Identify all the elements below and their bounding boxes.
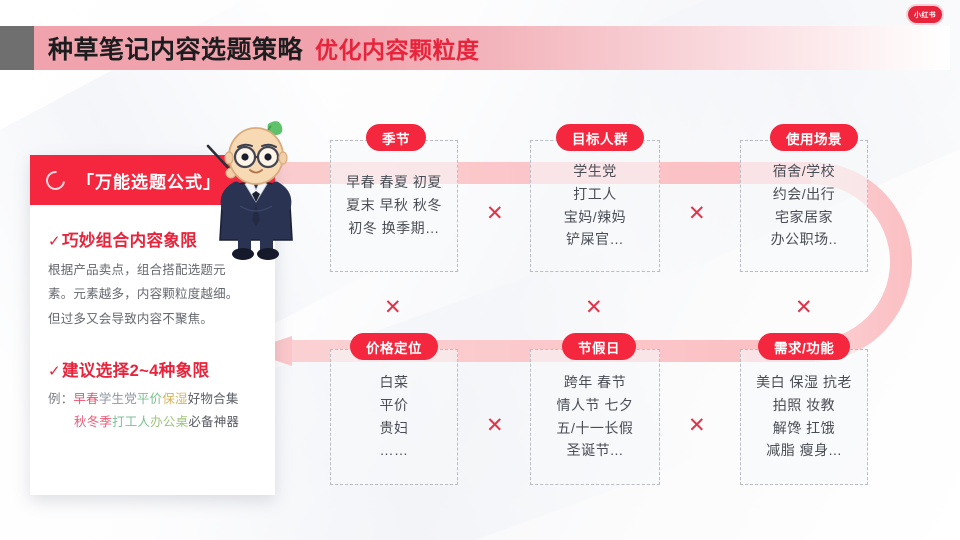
paragraph-line: 素。元素越多，内容颗粒度越细。 <box>48 282 257 306</box>
pill-holiday[interactable]: 节假日 <box>562 333 636 360</box>
cell-line: 跨年 春节 <box>564 373 626 393</box>
example-segment: 学生党 <box>99 392 137 406</box>
cell-line: 铲屎官… <box>566 230 624 250</box>
cell-line: 美白 保湿 抗老 <box>756 373 852 393</box>
pill-price-positioning[interactable]: 价格定位 <box>350 333 438 360</box>
multiply-icon: ✕ <box>795 297 813 318</box>
cell-line: 解馋 扛饿 <box>773 419 835 439</box>
cell-line: 平价 <box>380 396 409 416</box>
example-segment: 早春 <box>73 392 98 406</box>
cell-line: 早春 春夏 初夏 <box>346 173 442 193</box>
cell-line: 宿舍/学校 <box>773 162 835 182</box>
page-title-main: 种草笔记内容选题策略 <box>48 30 303 66</box>
example-segment: 好物合集 <box>188 392 239 406</box>
check-icon: ✓ <box>48 362 61 380</box>
cell-line: 白菜 <box>380 373 409 393</box>
header-gray-block <box>0 26 34 70</box>
example-segment: 办公桌 <box>150 415 188 429</box>
card-section1-paragraph: 根据产品卖点，组合搭配选题元 素。元素越多，内容颗粒度越细。 但过多又会导致内容… <box>48 258 257 331</box>
example-segment: 打工人 <box>112 415 150 429</box>
pill-need-function[interactable]: 需求/功能 <box>758 333 850 360</box>
example-line-2-segments: 秋冬季打工人办公桌必备神器 <box>74 415 239 429</box>
cell-line: 学生党 <box>573 162 617 182</box>
example-line-2: 秋冬季打工人办公桌必备神器 <box>48 411 257 434</box>
cell-holiday[interactable]: 跨年 春节 情人节 七夕 五/十一长假 圣诞节... <box>530 349 660 485</box>
xiaohongshu-logo-icon: 小红书 <box>908 6 942 23</box>
cell-line: 打工人 <box>573 185 617 205</box>
cell-line: 宝妈/辣妈 <box>564 208 626 228</box>
cell-line: 情人节 七夕 <box>557 396 634 416</box>
example-label: 例： <box>48 392 73 406</box>
cell-line: 减脂 瘦身... <box>766 441 842 461</box>
multiply-icon: ✕ <box>384 297 402 318</box>
card-section2-heading: ✓ 建议选择2~4种象限 <box>48 357 257 381</box>
page-title-accent: 优化内容颗粒度 <box>315 31 480 65</box>
card-section2-heading-text: 建议选择2~4种象限 <box>62 357 210 381</box>
cell-line: 夏末 早秋 秋冬 <box>346 196 442 216</box>
cell-line: 初冬 换季期… <box>348 219 439 239</box>
example-segment: 平价 <box>137 392 162 406</box>
multiply-icon: ✕ <box>486 415 504 436</box>
cell-line: 圣诞节... <box>567 441 624 461</box>
cell-target-audience[interactable]: 学生党 打工人 宝妈/辣妈 铲屎官… <box>530 140 660 272</box>
example-line-1: 例：早春学生党平价保湿好物合集 <box>48 388 257 411</box>
circular-arrow-icon <box>42 167 69 194</box>
cell-line: 宅家居家 <box>775 208 833 228</box>
page-title: 种草笔记内容选题策略 优化内容颗粒度 <box>48 26 480 70</box>
cell-season[interactable]: 早春 春夏 初夏 夏末 早秋 秋冬 初冬 换季期… <box>330 140 458 272</box>
cell-line: 办公职场.. <box>771 230 838 250</box>
multiply-icon: ✕ <box>688 203 706 224</box>
multiply-icon: ✕ <box>688 415 706 436</box>
example-segment: 必备神器 <box>188 415 239 429</box>
cell-line: 拍照 妆教 <box>773 396 835 416</box>
cell-usage-scenario[interactable]: 宿舍/学校 约会/出行 宅家居家 办公职场.. <box>740 140 868 272</box>
teacher-mascot-icon <box>196 118 314 263</box>
example-segment: 保湿 <box>162 392 187 406</box>
cell-line: 五/十一长假 <box>557 419 634 439</box>
paragraph-line: 但过多又会导致内容不聚焦。 <box>48 307 257 331</box>
multiply-icon: ✕ <box>585 297 603 318</box>
check-icon: ✓ <box>48 232 61 250</box>
example-line-1-segments: 早春学生党平价保湿好物合集 <box>73 392 238 406</box>
cell-need-function[interactable]: 美白 保湿 抗老 拍照 妆教 解馋 扛饿 减脂 瘦身... <box>740 349 868 485</box>
cell-line: …… <box>380 441 409 461</box>
cell-line: 约会/出行 <box>773 185 835 205</box>
pill-usage-scenario[interactable]: 使用场景 <box>770 124 858 151</box>
pill-season[interactable]: 季节 <box>366 124 426 151</box>
slide-canvas: 种草笔记内容选题策略 优化内容颗粒度 小红书 季节 早春 春夏 初夏 夏末 早秋… <box>0 0 960 540</box>
card-example: 例：早春学生党平价保湿好物合集 秋冬季打工人办公桌必备神器 <box>48 388 257 434</box>
cell-price-positioning[interactable]: 白菜 平价 贵妇 …… <box>330 349 458 485</box>
cell-line: 贵妇 <box>380 419 409 439</box>
card-section1-heading-text: 巧妙组合内容象限 <box>62 227 197 251</box>
pill-target-audience[interactable]: 目标人群 <box>556 124 644 151</box>
example-segment: 秋冬季 <box>74 415 112 429</box>
multiply-icon: ✕ <box>486 203 504 224</box>
